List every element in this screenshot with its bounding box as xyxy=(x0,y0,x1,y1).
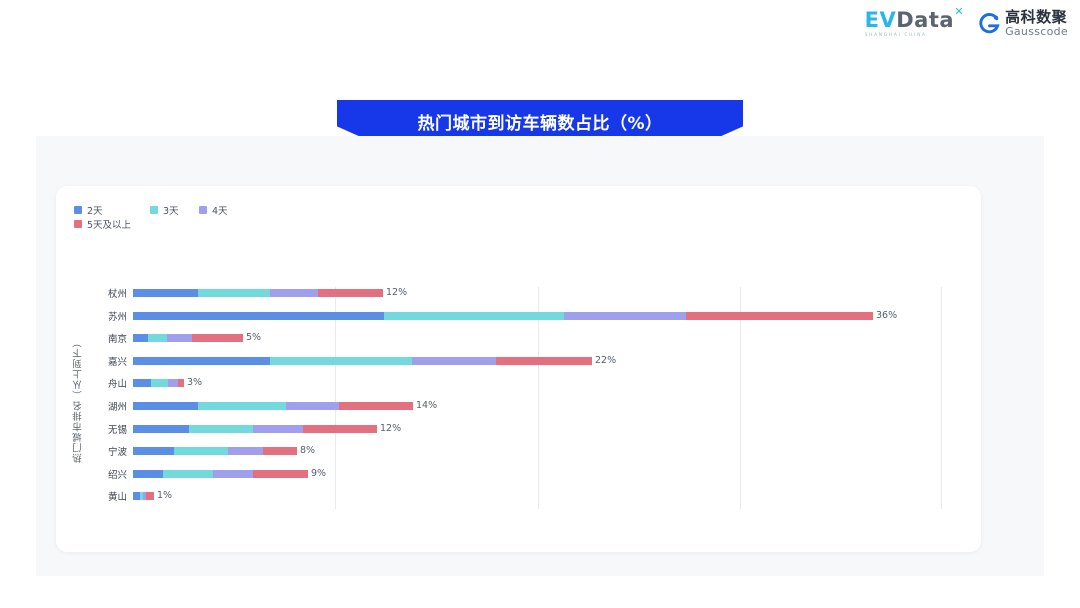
bar-segment-4day[interactable] xyxy=(228,447,263,455)
bar-segment-4day[interactable] xyxy=(412,357,496,365)
bar-segment-5day[interactable] xyxy=(339,402,413,410)
bar-segment-2day[interactable] xyxy=(133,447,174,455)
bar-segment-4day[interactable] xyxy=(286,402,339,410)
bar-segment-5day[interactable] xyxy=(192,334,243,342)
bar-segment-3day[interactable] xyxy=(148,334,167,342)
bar-segment-2day[interactable] xyxy=(133,289,198,297)
bar-segment-2day[interactable] xyxy=(133,379,151,387)
category-label-宁波: 宁波 xyxy=(71,444,127,458)
table-row[interactable] xyxy=(133,402,413,410)
bar-segment-3day[interactable] xyxy=(198,402,286,410)
bar-segment-2day[interactable] xyxy=(133,470,163,478)
bar-segment-3day[interactable] xyxy=(198,289,270,297)
bar-segment-2day[interactable] xyxy=(133,312,384,320)
category-label-无锡: 无锡 xyxy=(71,422,127,436)
bar-segment-4day[interactable] xyxy=(564,312,686,320)
bar-segment-4day[interactable] xyxy=(270,289,318,297)
bar-value-label: 9% xyxy=(311,470,326,478)
table-row[interactable] xyxy=(133,379,184,387)
bar-value-label: 5% xyxy=(246,334,261,342)
table-row[interactable] xyxy=(133,447,297,455)
bar-segment-2day[interactable] xyxy=(133,425,189,433)
bar-segment-2day[interactable] xyxy=(133,402,198,410)
bar-segment-5day[interactable] xyxy=(146,492,154,500)
category-label-绍兴: 绍兴 xyxy=(71,467,127,481)
bar-segment-2day[interactable] xyxy=(133,357,270,365)
bar-segment-2day[interactable] xyxy=(133,492,140,500)
table-row[interactable] xyxy=(133,470,308,478)
bar-segment-3day[interactable] xyxy=(384,312,564,320)
table-row[interactable] xyxy=(133,357,592,365)
bar-segment-5day[interactable] xyxy=(318,289,383,297)
stacked-bar-chart: 热门城市排名（从上到下） 杖州12%苏州36%南京5%嘉兴22%舟山3%湖州14… xyxy=(0,0,1080,608)
bar-value-label: 3% xyxy=(187,379,202,387)
category-label-南京: 南京 xyxy=(71,331,127,345)
table-row[interactable] xyxy=(133,425,377,433)
gridline-4 xyxy=(941,287,942,509)
table-row[interactable] xyxy=(133,492,154,500)
gridline-2 xyxy=(538,287,539,509)
bar-segment-5day[interactable] xyxy=(253,470,308,478)
bar-segment-5day[interactable] xyxy=(686,312,873,320)
category-label-杖州: 杖州 xyxy=(71,286,127,300)
bar-segment-3day[interactable] xyxy=(163,470,213,478)
bar-value-label: 12% xyxy=(386,289,407,297)
table-row[interactable] xyxy=(133,334,243,342)
category-label-湖州: 湖州 xyxy=(71,399,127,413)
bar-segment-4day[interactable] xyxy=(213,470,253,478)
bar-segment-3day[interactable] xyxy=(174,447,228,455)
bar-value-label: 14% xyxy=(416,402,437,410)
bar-segment-5day[interactable] xyxy=(496,357,592,365)
bar-value-label: 22% xyxy=(595,357,616,365)
bar-value-label: 1% xyxy=(157,492,172,500)
category-label-苏州: 苏州 xyxy=(71,309,127,323)
table-row[interactable] xyxy=(133,312,873,320)
gridline-1 xyxy=(335,287,336,509)
gridline-3 xyxy=(740,287,741,509)
category-label-舟山: 舟山 xyxy=(71,376,127,390)
bar-segment-3day[interactable] xyxy=(189,425,253,433)
table-row[interactable] xyxy=(133,289,383,297)
bar-value-label: 36% xyxy=(876,312,897,320)
bar-value-label: 8% xyxy=(300,447,315,455)
slide-canvas: EVData ✕ SHANGHAI CHINA 高科数聚 Gausscode 热… xyxy=(0,0,1080,608)
category-label-嘉兴: 嘉兴 xyxy=(71,354,127,368)
bar-value-label: 12% xyxy=(380,425,401,433)
bar-segment-4day[interactable] xyxy=(168,379,178,387)
category-label-黄山: 黄山 xyxy=(71,489,127,503)
bar-segment-4day[interactable] xyxy=(167,334,192,342)
bar-segment-5day[interactable] xyxy=(178,379,184,387)
bar-segment-2day[interactable] xyxy=(133,334,148,342)
bar-segment-4day[interactable] xyxy=(253,425,303,433)
bar-segment-3day[interactable] xyxy=(151,379,168,387)
bar-segment-5day[interactable] xyxy=(303,425,377,433)
bar-segment-3day[interactable] xyxy=(270,357,412,365)
bar-segment-5day[interactable] xyxy=(263,447,297,455)
